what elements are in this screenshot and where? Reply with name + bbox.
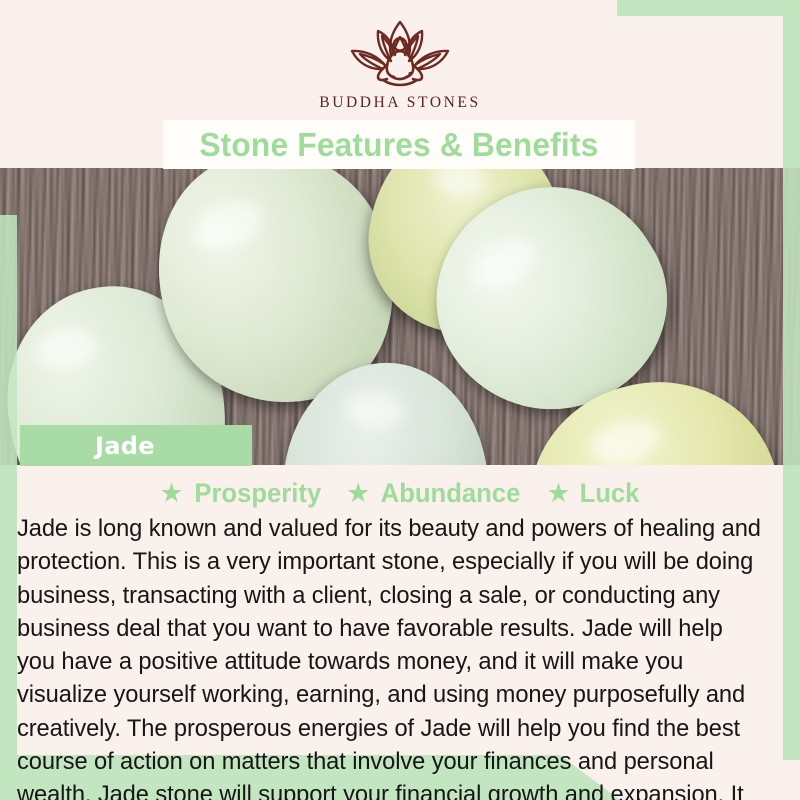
- brand-name: BUDDHA STONES: [0, 94, 800, 112]
- description-text: Jade is long known and valued for its be…: [17, 512, 764, 800]
- infographic-page: BUDDHA STONES Stone Features & Benefits …: [0, 0, 800, 800]
- stone-name-label: Jade: [95, 432, 155, 460]
- page-title: Stone Features & Benefits: [199, 126, 598, 164]
- stone-name-badge: Jade: [20, 425, 252, 466]
- star-icon: ★: [159, 480, 183, 507]
- page-title-band: Stone Features & Benefits: [163, 120, 635, 169]
- decor-right-lower-bar: [783, 470, 800, 760]
- photo-right-green-veil: [783, 168, 800, 465]
- benefit-item-luck: ★ Luck: [546, 478, 640, 509]
- benefit-item-prosperity: ★ Prosperity: [159, 478, 324, 509]
- lotus-meditation-icon: [325, 18, 475, 90]
- benefit-label: Abundance: [381, 478, 521, 509]
- brand-logo: BUDDHA STONES: [0, 18, 800, 112]
- stone-photo: [0, 168, 800, 465]
- photo-left-green-veil: [0, 215, 17, 465]
- benefits-row: ★ Prosperity ★ Abundance ★ Luck: [0, 478, 800, 509]
- star-icon: ★: [546, 480, 570, 507]
- benefit-label: Luck: [579, 478, 639, 509]
- star-icon: ★: [346, 480, 370, 507]
- benefit-label: Prosperity: [194, 478, 321, 509]
- benefit-item-abundance: ★ Abundance: [346, 478, 524, 509]
- brand-header: BUDDHA STONES: [0, 0, 800, 120]
